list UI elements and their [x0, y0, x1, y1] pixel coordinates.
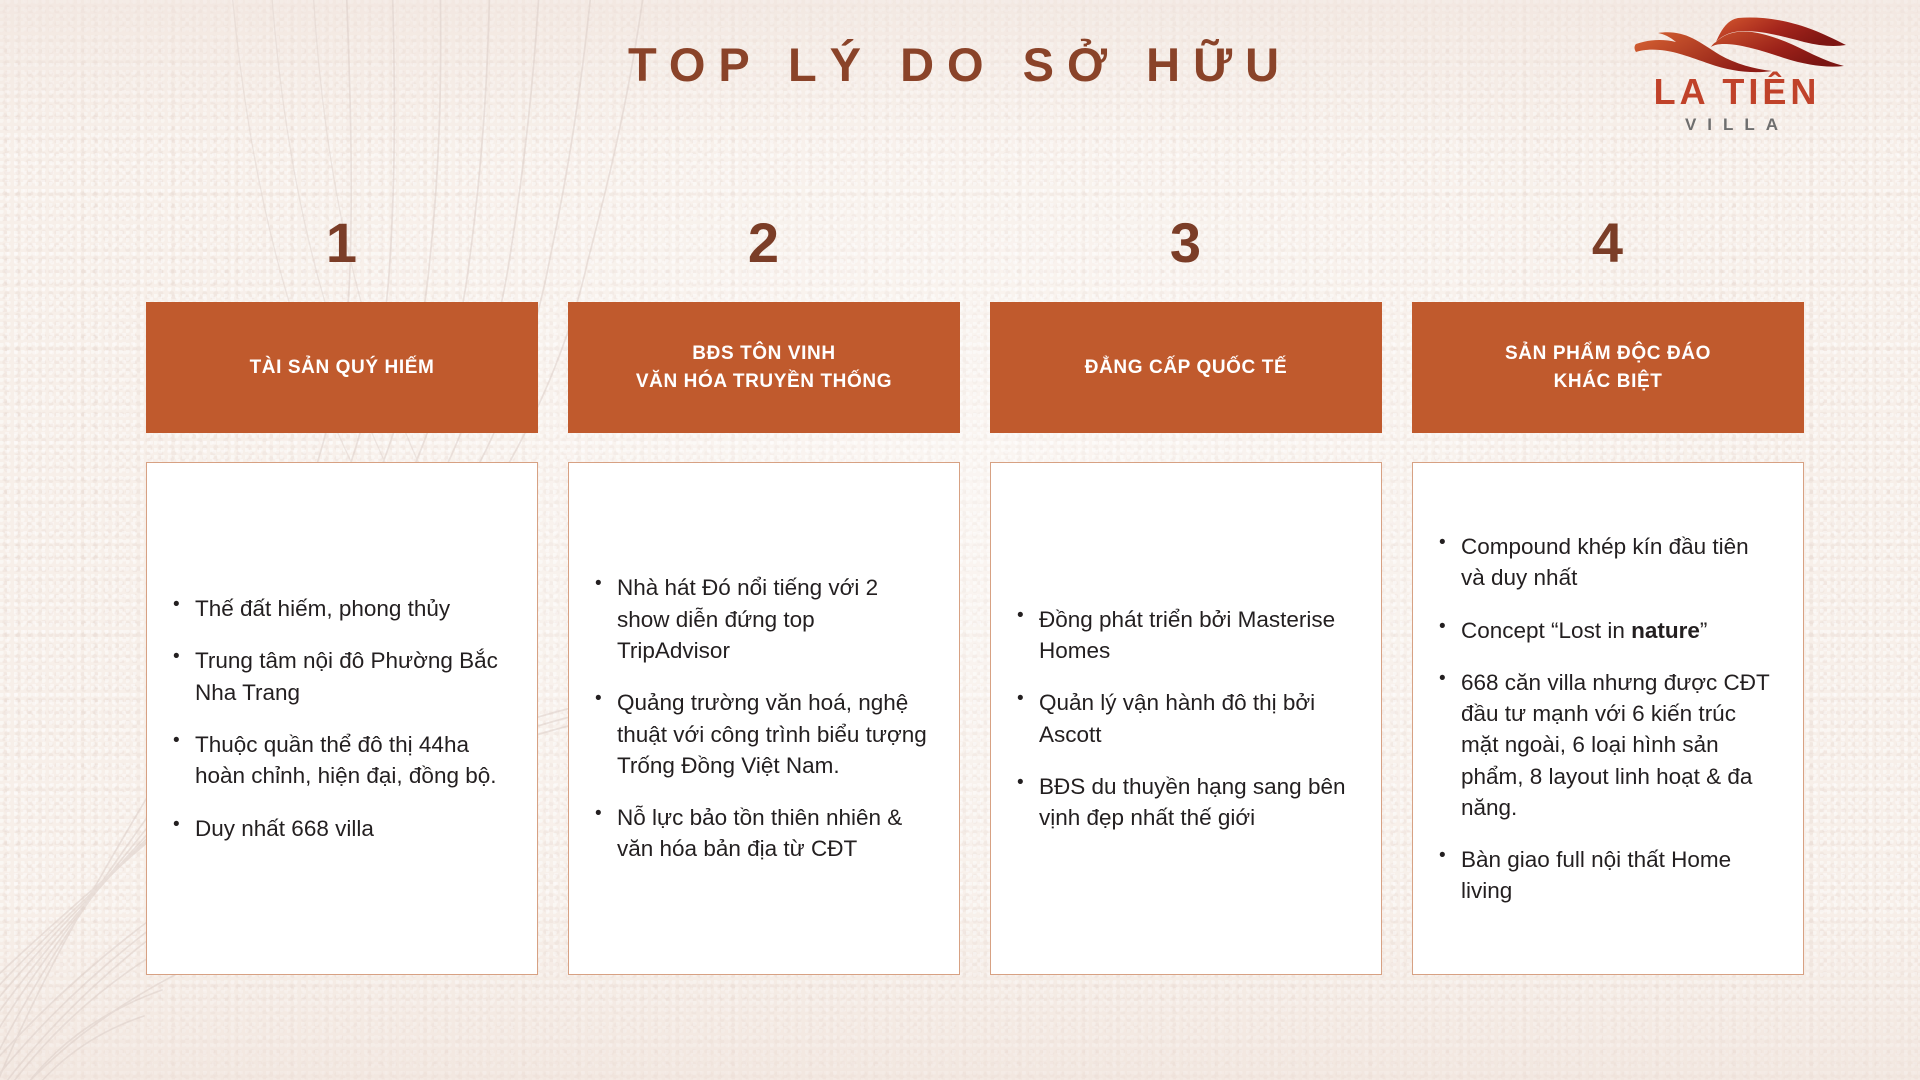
reason-card-1: Thế đất hiếm, phong thủy Trung tâm nội đ… — [146, 462, 538, 975]
list-item: Quảng trường văn hoá, nghệ thuật với côn… — [591, 687, 933, 781]
reason-column-3: 3 ĐẲNG CẤP QUỐC TẾ Đồng phát triển bởi M… — [990, 215, 1382, 975]
reason-card-2: Nhà hát Đó nổi tiếng với 2 show diễn đứn… — [568, 462, 960, 975]
reasons-columns: 1 TÀI SẢN QUÝ HIẾM Thế đất hiếm, phong t… — [146, 215, 1814, 975]
reason-header-line: TÀI SẢN QUÝ HIẾM — [250, 354, 435, 382]
reason-number-1: 1 — [146, 215, 538, 275]
list-item: 668 căn villa nhưng được CĐT đầu tư mạnh… — [1435, 667, 1777, 823]
list-item: Đồng phát triển bởi Masterise Homes — [1013, 604, 1355, 667]
reason-number-2: 2 — [568, 215, 960, 275]
reason-column-2: 2 BĐS TÔN VINH VĂN HÓA TRUYỀN THỐNG Nhà … — [568, 215, 960, 975]
logo-name: LA TIÊN — [1612, 74, 1862, 110]
list-item: Nỗ lực bảo tồn thiên nhiên & văn hóa bản… — [591, 802, 933, 865]
logo-subtitle: VILLA — [1612, 115, 1862, 135]
reason-card-4: Compound khép kín đầu tiên và duy nhất C… — [1412, 462, 1804, 975]
reason-header-line: VĂN HÓA TRUYỀN THỐNG — [636, 371, 892, 392]
reason-bullet-list-3: Đồng phát triển bởi Masterise Homes Quản… — [1013, 604, 1355, 834]
list-item: Concept “Lost in nature” — [1435, 615, 1777, 646]
reason-column-1: 1 TÀI SẢN QUÝ HIẾM Thế đất hiếm, phong t… — [146, 215, 538, 975]
list-item: Nhà hát Đó nổi tiếng với 2 show diễn đứn… — [591, 572, 933, 666]
list-item: Thế đất hiếm, phong thủy — [169, 593, 511, 624]
reason-number-4: 4 — [1412, 215, 1804, 275]
reason-header-line: KHÁC BIỆT — [1554, 371, 1663, 392]
wave-flame-mark — [1612, 14, 1862, 76]
list-item: Bàn giao full nội thất Home living — [1435, 844, 1777, 907]
brand-logo: LA TIÊN VILLA — [1612, 14, 1862, 134]
reason-bullet-list-1: Thế đất hiếm, phong thủy Trung tâm nội đ… — [169, 593, 511, 844]
reason-number-3: 3 — [990, 215, 1382, 275]
reason-column-4: 4 SẢN PHẨM ĐỘC ĐÁO KHÁC BIỆT Compound kh… — [1412, 215, 1804, 975]
reason-card-3: Đồng phát triển bởi Masterise Homes Quản… — [990, 462, 1382, 975]
reason-header-1: TÀI SẢN QUÝ HIẾM — [146, 302, 538, 433]
list-item: Compound khép kín đầu tiên và duy nhất — [1435, 531, 1777, 594]
reason-bullet-list-2: Nhà hát Đó nổi tiếng với 2 show diễn đứn… — [591, 572, 933, 864]
reason-header-line: ĐẲNG CẤP QUỐC TẾ — [1085, 354, 1287, 382]
list-item: Trung tâm nội đô Phường Bắc Nha Trang — [169, 645, 511, 708]
reason-header-2: BĐS TÔN VINH VĂN HÓA TRUYỀN THỐNG — [568, 302, 960, 433]
list-item: Duy nhất 668 villa — [169, 813, 511, 844]
reason-bullet-list-4: Compound khép kín đầu tiên và duy nhất C… — [1435, 531, 1777, 907]
reason-header-line: SẢN PHẨM ĐỘC ĐÁO — [1505, 343, 1711, 364]
reason-header-3: ĐẲNG CẤP QUỐC TẾ — [990, 302, 1382, 433]
reason-header-4: SẢN PHẨM ĐỘC ĐÁO KHÁC BIỆT — [1412, 302, 1804, 433]
list-item: BĐS du thuyền hạng sang bên vịnh đẹp nhấ… — [1013, 771, 1355, 834]
reason-header-line: BĐS TÔN VINH — [692, 343, 835, 364]
list-item: Thuộc quần thể đô thị 44ha hoàn chỉnh, h… — [169, 729, 511, 792]
list-item: Quản lý vận hành đô thị bởi Ascott — [1013, 687, 1355, 750]
